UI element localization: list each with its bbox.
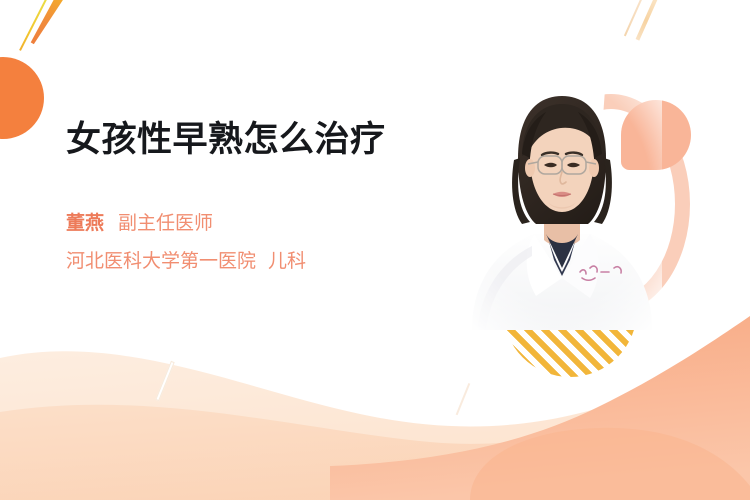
orange-diagonal-stroke-decor	[29, 0, 68, 46]
cover-text-block: 女孩性早熟怎么治疗 董燕副主任医师 河北医科大学第一医院儿科	[66, 118, 421, 277]
yellow-diagonal-line-decor	[19, 0, 51, 51]
doctor-department: 儿科	[268, 251, 306, 272]
page-title: 女孩性早熟怎么治疗	[66, 118, 421, 162]
top-right-thin-line-decor	[624, 0, 646, 36]
doctor-job-title: 副主任医师	[118, 213, 213, 234]
doctor-credential-line: 董燕副主任医师	[66, 209, 421, 239]
orange-circle-decor	[0, 57, 44, 139]
bottom-left-thin-stroke-decor	[155, 361, 174, 401]
doctor-video-cover-card: 女孩性早熟怎么治疗 董燕副主任医师 河北医科大学第一医院儿科	[0, 0, 750, 500]
doctor-name: 董燕	[66, 213, 104, 234]
bottom-center-thin-stroke-decor	[456, 383, 470, 415]
top-right-diagonal-stroke-decor	[636, 0, 661, 41]
doctor-affiliation-line: 河北医科大学第一医院儿科	[66, 247, 421, 277]
doctor-portrait-photo	[462, 82, 662, 330]
doctor-hospital: 河北医科大学第一医院	[66, 251, 256, 272]
